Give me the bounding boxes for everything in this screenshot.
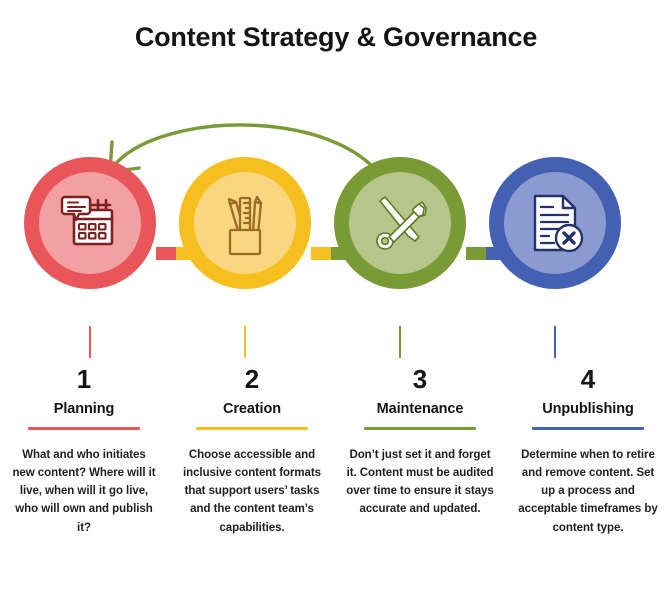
step-label: Planning (10, 401, 158, 417)
drop-line-unpublishing (554, 326, 556, 358)
step-number: 4 (514, 366, 662, 392)
step-number: 1 (10, 366, 158, 392)
page-title: Content Strategy & Governance (0, 22, 672, 53)
drop-line-creation (244, 326, 246, 358)
pencil-cup-icon (210, 188, 280, 258)
calendar-chat-icon (55, 188, 125, 258)
step-underline (28, 427, 140, 430)
wrench-screwdriver-icon (365, 188, 435, 258)
step-label: Creation (178, 401, 326, 417)
drop-line-maintenance (399, 326, 401, 358)
step-underline (364, 427, 476, 430)
step-label: Unpublishing (514, 401, 662, 417)
step-circle-creation[interactable] (179, 157, 311, 289)
step-column-creation: 2 Creation Choose accessible and inclusi… (168, 366, 336, 537)
process-diagram (0, 96, 672, 326)
document-remove-icon (520, 188, 590, 258)
step-circle-planning[interactable] (24, 157, 156, 289)
step-descriptions: 1 Planning What and who initiates new co… (0, 366, 672, 537)
step-number: 2 (178, 366, 326, 392)
step-body-text: Choose accessible and inclusive content … (178, 446, 326, 537)
drop-line-planning (89, 326, 91, 358)
step-underline (196, 427, 308, 430)
step-column-unpublishing: 4 Unpublishing Determine when to retire … (504, 366, 672, 537)
infographic-canvas: Content Strategy & Governance (0, 0, 672, 590)
step-body-text: Determine when to retire and remove cont… (514, 446, 662, 537)
step-underline (532, 427, 644, 430)
connector-left-half (156, 247, 176, 260)
step-circle-maintenance[interactable] (334, 157, 466, 289)
connector-left-half (466, 247, 486, 260)
connector-left-half (311, 247, 331, 260)
step-label: Maintenance (346, 401, 494, 417)
step-number: 3 (346, 366, 494, 392)
step-column-maintenance: 3 Maintenance Don’t just set it and forg… (336, 366, 504, 537)
step-column-planning: 1 Planning What and who initiates new co… (0, 366, 168, 537)
step-body-text: Don’t just set it and forget it. Content… (346, 446, 494, 519)
step-body-text: What and who initiates new content? Wher… (10, 446, 158, 537)
step-circle-unpublishing[interactable] (489, 157, 621, 289)
